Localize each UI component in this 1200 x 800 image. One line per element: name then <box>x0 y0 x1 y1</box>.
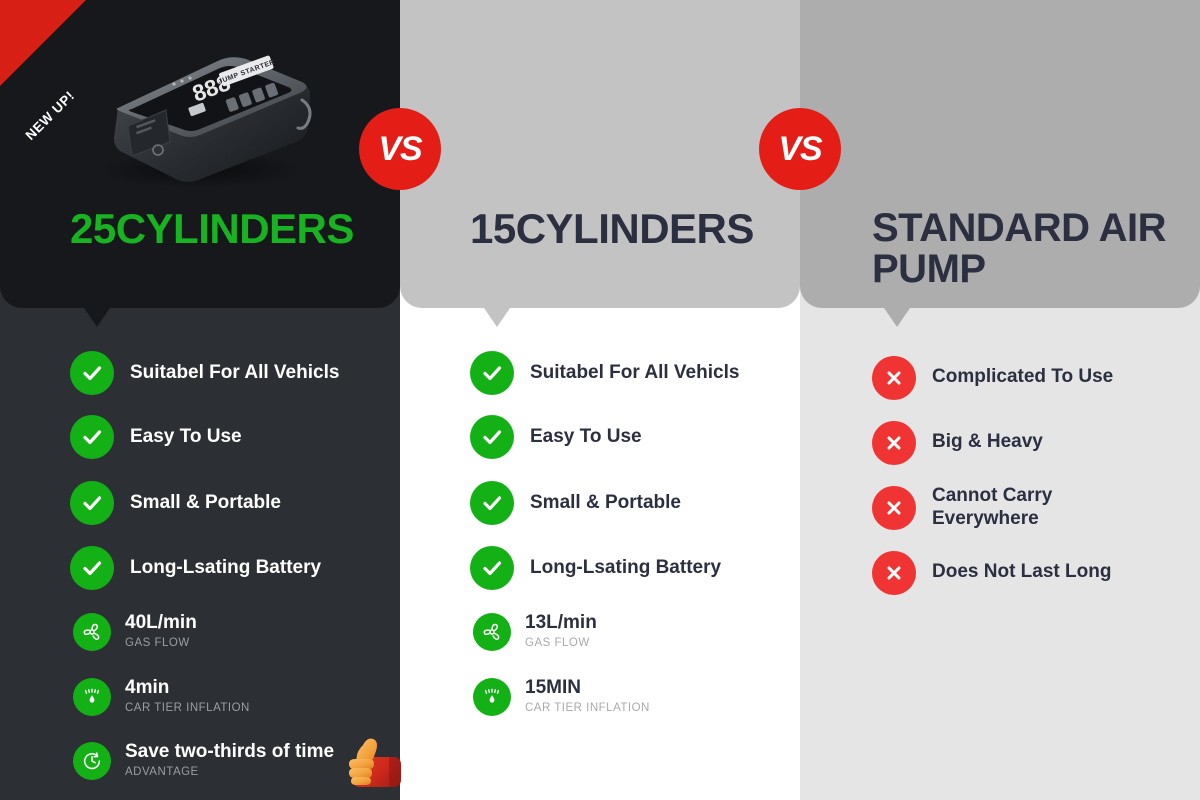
page-title-2: 15CYLINDERS <box>470 208 754 251</box>
list-item: Suitabel For All Vehicls <box>470 342 800 404</box>
spec-value: 40L/min <box>125 613 197 634</box>
vs-label: VS <box>378 130 421 169</box>
list-item: Does Not Last Long <box>872 540 1192 605</box>
list-item: Big & Heavy <box>872 410 1192 475</box>
list-item-label: Does Not Last Long <box>932 561 1111 583</box>
page-title-3: STANDARD AIR PUMP <box>872 208 1172 290</box>
list-item: Complicated To Use <box>872 345 1192 410</box>
list-item-label: Suitabel For All Vehicls <box>530 362 739 384</box>
list-item-label: Easy To Use <box>530 426 642 448</box>
feature-list-3: Complicated To Use Big & Heavy Cannot Ca… <box>872 345 1192 605</box>
list-item-label: Big & Heavy <box>932 431 1043 453</box>
spec-caption: GAS FLOW <box>525 636 597 650</box>
fan-icon <box>73 613 111 651</box>
list-item: Small & Portable <box>470 470 800 536</box>
spec-caption: CAR TIER INFLATION <box>125 701 250 715</box>
check-icon <box>470 415 514 459</box>
spec-caption: CAR TIER INFLATION <box>525 701 650 715</box>
spec-caption: GAS FLOW <box>125 636 197 650</box>
list-item: Cannot Carry Everywhere <box>872 475 1192 540</box>
list-item-label: Complicated To Use <box>932 366 1113 388</box>
list-item: Small & Portable <box>70 470 400 536</box>
card-pointer-3 <box>884 308 910 327</box>
comparison-infographic: 888 JUMP STARTER <box>0 0 1200 800</box>
check-icon <box>470 546 514 590</box>
spec-value: 15MIN <box>525 678 650 699</box>
product-card-1: 888 JUMP STARTER <box>0 0 400 308</box>
product-card-2: JUMP STARTER <box>400 0 800 308</box>
spec-text: 15MIN CAR TIER INFLATION <box>525 678 650 715</box>
spec-value: 13L/min <box>525 613 597 634</box>
check-icon <box>70 351 114 395</box>
list-item-label: Long-Lsating Battery <box>130 557 321 579</box>
cross-icon <box>872 356 916 400</box>
spec-value: Save two-thirds of time <box>125 742 334 763</box>
check-icon <box>470 351 514 395</box>
list-item-label: Cannot Carry Everywhere <box>932 485 1112 529</box>
page-title-1: 25CYLINDERS <box>70 208 354 251</box>
card-pointer-2 <box>484 308 510 327</box>
list-item-label: Small & Portable <box>530 492 681 514</box>
fan-icon <box>473 613 511 651</box>
list-item-label: Easy To Use <box>130 426 242 448</box>
cross-icon <box>872 421 916 465</box>
list-item: Long-Lsating Battery <box>470 536 800 600</box>
clock-icon <box>73 742 111 780</box>
cross-icon <box>872 486 916 530</box>
vs-label: VS <box>778 130 821 169</box>
spec-item: 40L/min GAS FLOW <box>73 600 400 664</box>
spec-item: 15MIN CAR TIER INFLATION <box>473 664 800 729</box>
spec-text: 13L/min GAS FLOW <box>525 613 597 650</box>
spec-item: 4min CAR TIER INFLATION <box>73 664 400 729</box>
thumbs-up-icon <box>343 735 405 791</box>
vs-badge-1: VS <box>359 108 441 190</box>
check-icon <box>70 546 114 590</box>
list-item: Long-Lsating Battery <box>70 536 400 600</box>
list-item: Easy To Use <box>70 404 400 470</box>
pressure-gauge-icon <box>73 678 111 716</box>
new-up-ribbon: NEW UP! <box>0 0 86 86</box>
check-icon <box>470 481 514 525</box>
vs-badge-2: VS <box>759 108 841 190</box>
spec-text: 4min CAR TIER INFLATION <box>125 678 250 715</box>
cross-icon <box>872 551 916 595</box>
card-pointer-1 <box>84 308 110 327</box>
spec-text: Save two-thirds of time ADVANTAGE <box>125 742 334 779</box>
feature-list-1: Suitabel For All Vehicls Easy To Use Sma… <box>70 342 400 793</box>
spec-item: 13L/min GAS FLOW <box>473 600 800 664</box>
spec-text: 40L/min GAS FLOW <box>125 613 197 650</box>
feature-list-2: Suitabel For All Vehicls Easy To Use Sma… <box>470 342 800 729</box>
list-item-label: Long-Lsating Battery <box>530 557 721 579</box>
list-item-label: Suitabel For All Vehicls <box>130 362 339 384</box>
list-item: Suitabel For All Vehicls <box>70 342 400 404</box>
pressure-gauge-icon <box>473 678 511 716</box>
jump-starter-black-product-image: 888 JUMP STARTER <box>70 30 330 190</box>
check-icon <box>70 481 114 525</box>
list-item-label: Small & Portable <box>130 492 281 514</box>
spec-caption: ADVANTAGE <box>125 765 334 779</box>
check-icon <box>70 415 114 459</box>
list-item: Easy To Use <box>470 404 800 470</box>
spec-value: 4min <box>125 678 250 699</box>
